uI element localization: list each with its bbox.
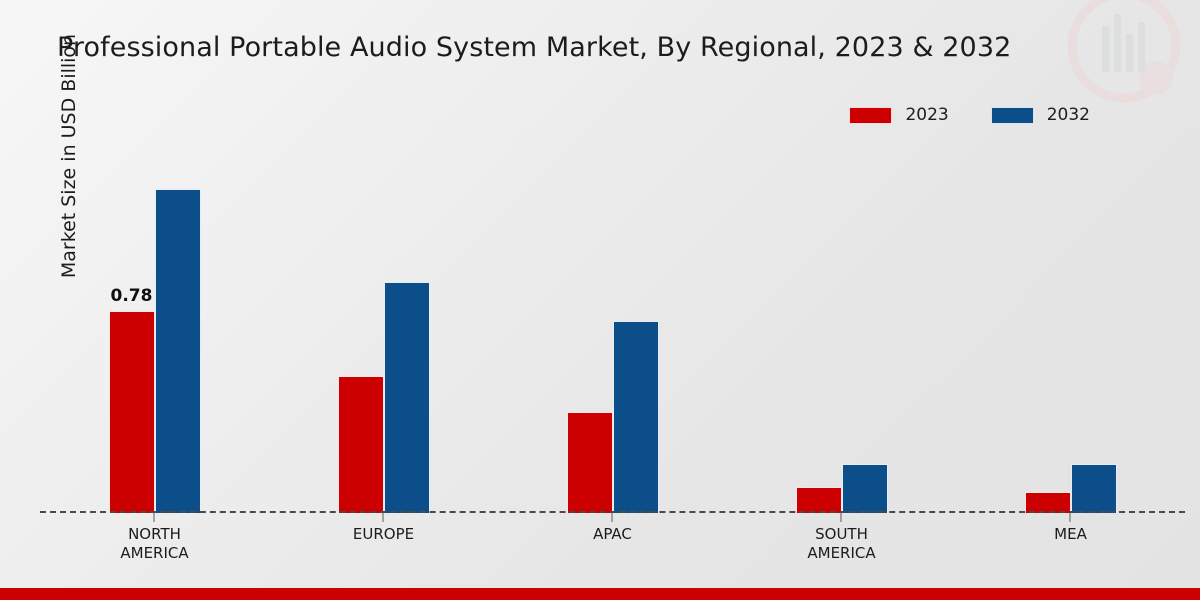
- legend-item-2023[interactable]: 2023: [849, 105, 948, 125]
- x-axis-category-label: SOUTH AMERICA: [807, 525, 875, 563]
- x-axis-category-label: EUROPE: [353, 525, 414, 544]
- x-axis-category-label: NORTH AMERICA: [120, 525, 188, 563]
- chart-legend: 2023 2032: [849, 105, 1090, 125]
- bar-group: MEA: [956, 150, 1185, 513]
- bar-2023[interactable]: [567, 412, 613, 513]
- legend-label-2023: 2023: [905, 105, 948, 125]
- legend-swatch-2032: [991, 107, 1034, 124]
- bar-2032[interactable]: [384, 282, 430, 513]
- bar-2023[interactable]: [796, 487, 842, 513]
- bar-2032[interactable]: [155, 189, 201, 513]
- bar-group: APAC: [498, 150, 727, 513]
- x-axis-tick: [611, 513, 612, 522]
- bar-2023[interactable]: 0.78: [109, 311, 155, 513]
- bar-groups: 0.78NORTH AMERICAEUROPEAPACSOUTH AMERICA…: [40, 150, 1185, 513]
- x-axis-tick: [382, 513, 383, 522]
- bar-2023[interactable]: [338, 376, 384, 513]
- legend-swatch-2023: [849, 107, 892, 124]
- bar-value-label: 0.78: [111, 286, 153, 306]
- bar-2023[interactable]: [1025, 492, 1071, 513]
- x-axis-category-label: MEA: [1054, 525, 1087, 544]
- chart-title: Professional Portable Audio System Marke…: [57, 32, 1011, 63]
- x-axis-category-label: APAC: [593, 525, 632, 544]
- bar-group: EUROPE: [269, 150, 498, 513]
- x-axis-tick: [153, 513, 154, 522]
- bar-group: SOUTH AMERICA: [727, 150, 956, 513]
- bar-group: 0.78NORTH AMERICA: [40, 150, 269, 513]
- bar-2032[interactable]: [613, 321, 659, 513]
- x-axis-tick: [840, 513, 841, 522]
- legend-item-2032[interactable]: 2032: [991, 105, 1090, 125]
- legend-label-2032: 2032: [1047, 105, 1090, 125]
- plot-area: 0.78NORTH AMERICAEUROPEAPACSOUTH AMERICA…: [40, 150, 1185, 513]
- footer-accent-bar: [0, 588, 1200, 600]
- chart-canvas: Professional Portable Audio System Marke…: [0, 0, 1200, 600]
- bar-2032[interactable]: [842, 464, 888, 513]
- x-axis-baseline: [40, 511, 1185, 513]
- bar-2032[interactable]: [1071, 464, 1117, 513]
- x-axis-tick: [1069, 513, 1070, 522]
